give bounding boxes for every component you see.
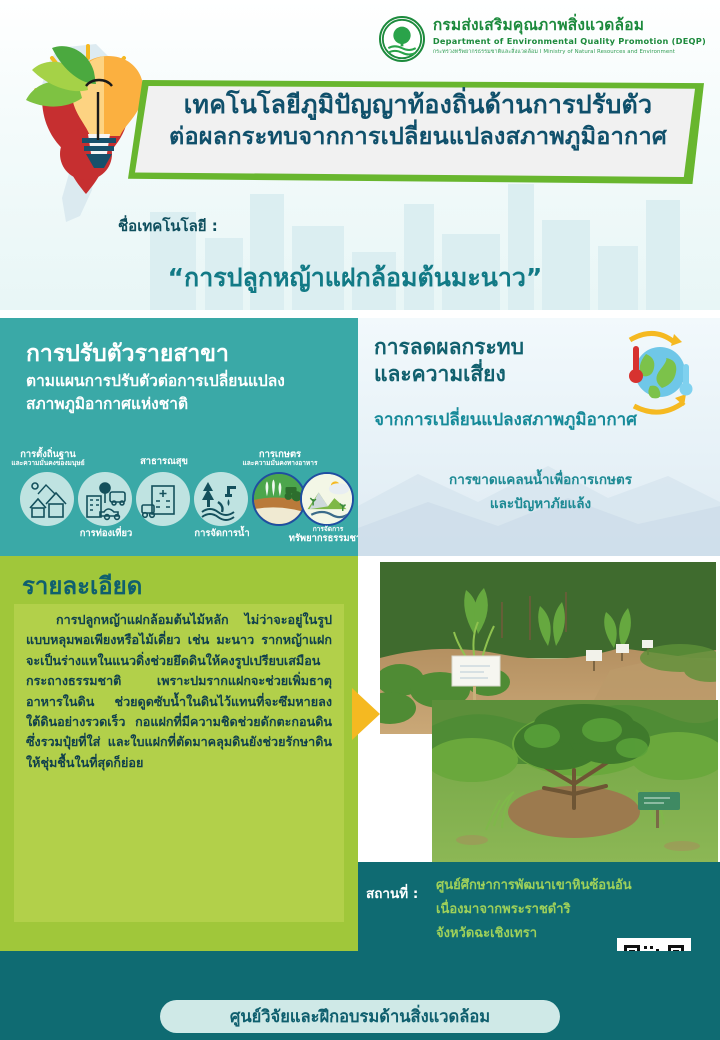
adaptation-heading: การปรับตัวรายสาขา bbox=[26, 336, 229, 372]
technology-name: “การปลูกหญ้าแฝกล้อมต้นมะนาว” bbox=[120, 258, 590, 298]
agriculture-tractor-wheat-icon bbox=[252, 472, 306, 526]
page-title-line2: ต่อผลกระทบจากการเปลี่ยนแปลงสภาพภูมิอากาศ bbox=[150, 122, 686, 151]
tourism-city-car-icon bbox=[78, 472, 132, 526]
mitigation-heading: การลดผลกระทบ และความเสี่ยง bbox=[374, 334, 604, 389]
deqp-logo-icon bbox=[379, 16, 425, 62]
natural-resources-mountain-icon bbox=[300, 472, 354, 526]
place-value: ศูนย์ศึกษาการพัฒนาเขาหินซ้อนอัน เนื่องมา… bbox=[436, 874, 636, 946]
mitigation-heading-line2: และความเสี่ยง bbox=[374, 361, 604, 388]
sector-public-health-label: สาธารณสุข bbox=[110, 457, 218, 468]
mitigation-panel: การลดผลกระทบ และความเสี่ยง จากการเปลี่ยน… bbox=[358, 318, 720, 556]
details-title: รายละเอียด bbox=[22, 566, 142, 605]
mitigation-heading-line3: จากการเปลี่ยนแปลงสภาพภูมิอากาศ bbox=[374, 406, 704, 433]
org-name-en: Department of Environmental Quality Prom… bbox=[433, 36, 706, 46]
org-name-th: กรมส่งเสริมคุณภาพสิ่งแวดล้อม bbox=[433, 17, 706, 35]
adaptation-subheading: ตามแผนการปรับตัวต่อการเปลี่ยนแปลง สภาพภู… bbox=[26, 370, 346, 417]
org-logo-block: กรมส่งเสริมคุณภาพสิ่งแวดล้อม Department … bbox=[379, 16, 706, 62]
title-banner: เทคโนโลยีภูมิปัญญาท้องถิ่นด้านการปรับตัว… bbox=[128, 80, 704, 184]
sector-water-management-label: การจัดการน้ำ bbox=[168, 529, 276, 540]
footer-pill-label: ศูนย์วิจัยและฝึกอบรมด้านสิ่งแวดล้อม bbox=[230, 1004, 490, 1030]
poster-header: กรมส่งเสริมคุณภาพสิ่งแวดล้อม Department … bbox=[0, 0, 720, 310]
sector-settlement-label: การตั้งถิ่นฐาน และความมั่นคงของมนุษย์ bbox=[0, 450, 102, 468]
sector-water-management[interactable]: การจัดการน้ำ bbox=[194, 472, 250, 526]
mitigation-issue-line2: และปัญหาภัยแล้ง bbox=[368, 492, 713, 516]
mitigation-issue-line1: การขาดแคลนน้ำเพื่อการเกษตร bbox=[368, 468, 713, 492]
sector-settlement[interactable]: การตั้งถิ่นฐาน และความมั่นคงของมนุษย์ bbox=[20, 472, 76, 526]
public-health-hospital-icon bbox=[136, 472, 190, 526]
poster-root: กรมส่งเสริมคุณภาพสิ่งแวดล้อม Department … bbox=[0, 0, 720, 1040]
details-body-box: การปลูกหญ้าแฝกล้อมต้นไม้หลัก ไม่ว่าจะอยู… bbox=[14, 604, 344, 922]
place-line1: ศูนย์ศึกษาการพัฒนาเขาหินซ้อนอัน bbox=[436, 874, 636, 898]
sector-public-health[interactable]: สาธารณสุข bbox=[136, 472, 192, 526]
place-label: สถานที่ : bbox=[366, 882, 418, 904]
water-management-faucet-river-icon bbox=[194, 472, 248, 526]
adaptation-subheading-line1: ตามแผนการปรับตัวต่อการเปลี่ยนแปลง bbox=[26, 370, 346, 393]
place-line2: เนื่องมาจากพระราชดำริ bbox=[436, 898, 636, 922]
technology-label: ชื่อเทคโนโลยี : bbox=[118, 214, 218, 238]
adaptation-subheading-line2: สภาพภูมิอากาศแห่งชาติ bbox=[26, 393, 346, 416]
footer-pill[interactable]: ศูนย์วิจัยและฝึกอบรมด้านสิ่งแวดล้อม bbox=[160, 1000, 560, 1033]
details-body-text: การปลูกหญ้าแฝกล้อมต้นไม้หลัก ไม่ว่าจะอยู… bbox=[26, 610, 332, 773]
page-title-line1: เทคโนโลยีภูมิปัญญาท้องถิ่นด้านการปรับตัว bbox=[150, 90, 686, 121]
sector-natural-resources[interactable]: การจัดการ ทรัพยากรธรรมชาติ bbox=[300, 472, 356, 526]
sector-tourism[interactable]: การท่องเที่ยว bbox=[78, 472, 134, 526]
settlement-houses-icon bbox=[20, 472, 74, 526]
sector-agriculture-label: การเกษตร และความมั่นคงทางอาหาร bbox=[226, 450, 334, 468]
sector-tourism-label: การท่องเที่ยว bbox=[52, 529, 160, 540]
adaptation-panel: การปรับตัวรายสาขา ตามแผนการปรับตัวต่อการ… bbox=[0, 318, 358, 556]
arrow-right-icon bbox=[352, 688, 380, 740]
mitigation-heading-line1: การลดผลกระทบ bbox=[374, 334, 604, 361]
sector-icon-row: การตั้งถิ่นฐาน และความมั่นคงของมนุษย์ bbox=[6, 446, 356, 552]
place-line3: จังหวัดฉะเชิงเทรา bbox=[436, 922, 636, 946]
mitigation-issue: การขาดแคลนน้ำเพื่อการเกษตร และปัญหาภัยแล… bbox=[368, 468, 713, 517]
details-panel: รายละเอียด การปลูกหญ้าแฝกล้อมต้นไม้หลัก … bbox=[0, 556, 358, 951]
org-ministry: กระทรวงทรัพยากรธรรมชาติและสิ่งแวดล้อม I … bbox=[433, 48, 706, 56]
photo-lime-tree-with-vetiver bbox=[432, 700, 718, 862]
